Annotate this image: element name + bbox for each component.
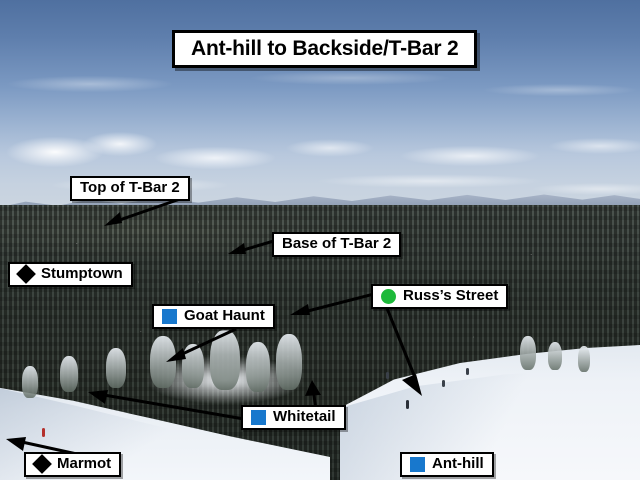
skier: [466, 368, 469, 375]
label-text: Base of T-Bar 2: [282, 236, 391, 253]
blue-square-icon: [410, 457, 425, 472]
label-text: Whitetail: [273, 409, 336, 426]
label-text: Top of T-Bar 2: [80, 180, 180, 197]
snow-covered-tree: [106, 348, 126, 388]
snow-covered-tree: [520, 336, 536, 370]
snow-covered-tree: [182, 344, 204, 388]
label-text: Russ’s Street: [403, 288, 498, 305]
label-russs-street[interactable]: Russ’s Street: [371, 284, 508, 309]
skier: [406, 400, 409, 409]
label-stumptown[interactable]: Stumptown: [8, 262, 133, 287]
label-ant-hill[interactable]: Ant-hill: [400, 452, 494, 477]
snow-covered-tree: [246, 342, 270, 392]
snow-covered-tree: [22, 366, 38, 398]
label-whitetail[interactable]: Whitetail: [241, 405, 346, 430]
label-base-of-t-bar-2[interactable]: Base of T-Bar 2: [272, 232, 401, 257]
snow-covered-tree: [548, 342, 562, 370]
annotated-ski-photo: Ant-hill to Backside/T-Bar 2 Top of T-Ba…: [0, 0, 640, 480]
label-text: Ant-hill: [432, 456, 484, 473]
snow-covered-tree: [150, 336, 176, 388]
snow-covered-tree: [60, 356, 78, 392]
skier: [442, 380, 445, 387]
skier: [42, 428, 45, 437]
snow-covered-tree: [578, 346, 590, 372]
label-text: Marmot: [57, 456, 111, 473]
label-goat-haunt[interactable]: Goat Haunt: [152, 304, 275, 329]
green-circle-icon: [381, 289, 396, 304]
title-text: Ant-hill to Backside/T-Bar 2: [191, 37, 458, 61]
black-diamond-icon: [16, 264, 36, 284]
label-text: Stumptown: [41, 266, 123, 283]
snow-covered-tree: [276, 334, 302, 390]
label-top-of-t-bar-2[interactable]: Top of T-Bar 2: [70, 176, 190, 201]
black-diamond-icon: [32, 454, 52, 474]
skier: [386, 372, 389, 379]
title-banner: Ant-hill to Backside/T-Bar 2: [172, 30, 477, 68]
label-marmot[interactable]: Marmot: [24, 452, 121, 477]
snow-covered-tree: [210, 330, 240, 390]
blue-square-icon: [162, 309, 177, 324]
blue-square-icon: [251, 410, 266, 425]
label-text: Goat Haunt: [184, 308, 265, 325]
